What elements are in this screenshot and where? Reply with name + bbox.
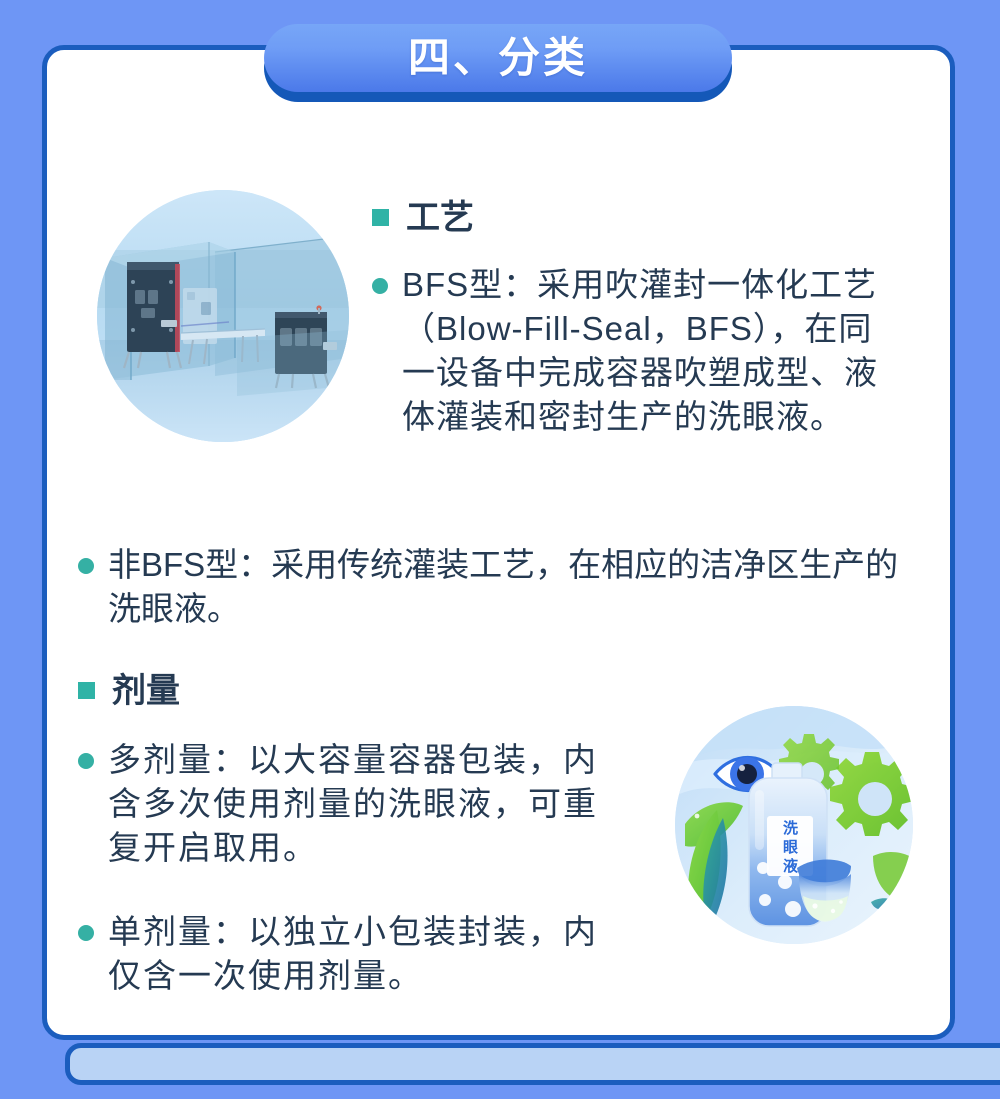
list-item: BFS型：采用吹灌封一体化工艺（Blow-Fill-Seal，BFS），在同一设… [372,263,902,439]
cleanroom-illustration-svg [97,190,349,442]
round-bullet-icon [78,925,94,941]
list-item-text: 单剂量：以独立小包装封装，内仅含一次使用剂量。 [108,910,608,998]
list-item-text: 非BFS型：采用传统灌装工艺，在相应的洁净区生产的洗眼液。 [108,543,918,631]
list-item: 非BFS型：采用传统灌装工艺，在相应的洁净区生产的洗眼液。 [78,543,918,631]
round-bullet-icon [78,558,94,574]
list-item: 单剂量：以独立小包装封装，内仅含一次使用剂量。 [78,910,608,998]
bottle-label-char: 眼 [783,839,798,856]
list-item: 多剂量：以大容量容器包装，内含多次使用剂量的洗眼液，可重复开启取用。 [78,738,608,870]
gear-icon [830,752,913,836]
section-heading-label: 剂量 [112,670,180,713]
title-pill: 四、分类 [264,24,732,92]
cleanroom-production-line-illustration [97,190,349,442]
round-bullet-icon [372,278,388,294]
eyewash-illustration-svg: 洗 眼 液 [675,706,913,944]
page-title: 四、分类 [408,37,588,79]
square-bullet-icon [372,209,389,226]
square-bullet-icon [78,682,95,699]
list-item-text: 多剂量：以大容量容器包装，内含多次使用剂量的洗眼液，可重复开启取用。 [108,738,608,870]
section-heading-dose: 剂量 [78,670,180,713]
content-area: 工艺 BFS型：采用吹灌封一体化工艺（Blow-Fill-Seal，BFS），在… [42,45,955,1040]
list-item-text: BFS型：采用吹灌封一体化工艺（Blow-Fill-Seal，BFS），在同一设… [402,263,902,439]
decorative-bottom-bar [65,1043,1000,1085]
round-bullet-icon [78,753,94,769]
bottle-label-char: 洗 [783,819,798,837]
section-title-banner: 四、分类 [264,24,732,102]
eyewash-product-illustration: 洗 眼 液 [675,706,913,944]
section-heading-label: 工艺 [406,197,474,240]
section-heading-process: 工艺 [372,197,474,240]
bottle-label-char: 液 [783,857,799,875]
